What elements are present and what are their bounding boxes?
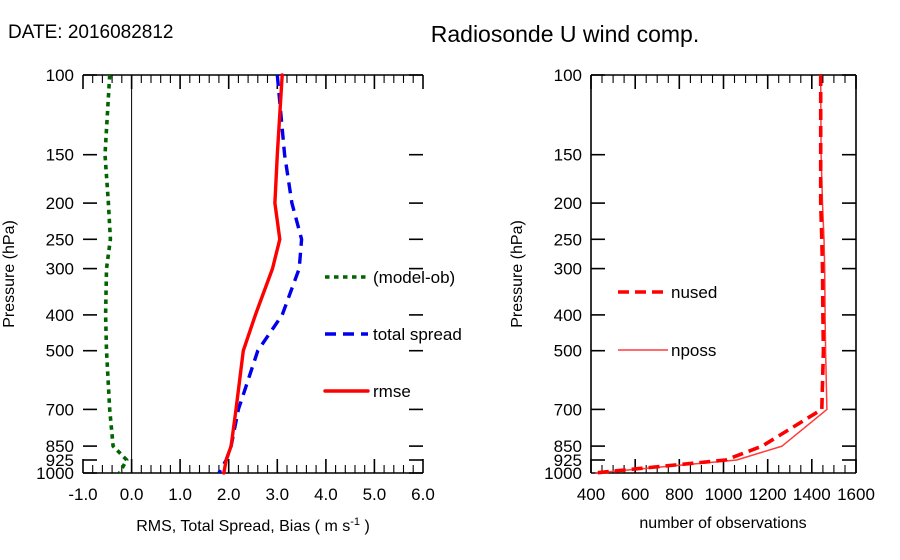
left-ytick-label: 700 xyxy=(46,400,74,419)
left-ytick-label: 250 xyxy=(46,230,74,249)
left-xtick-label: 1.0 xyxy=(168,485,192,504)
legend-label-rmse: rmse xyxy=(373,382,411,401)
left-xtick-label: 2.0 xyxy=(217,485,241,504)
left-xticks-major xyxy=(83,75,423,473)
left-ytick-label: 1000 xyxy=(36,464,74,483)
chart-svg: DATE: 2016082812 Radiosonde U wind comp. xyxy=(0,0,900,560)
series-total-spread-curve xyxy=(219,75,302,473)
left-xtick-label: 4.0 xyxy=(314,485,338,504)
left-ytick-label: 500 xyxy=(46,342,74,361)
left-ytick-label: 400 xyxy=(46,306,74,325)
left-ytick-label: 300 xyxy=(46,260,74,279)
right-ytick-label: 300 xyxy=(554,260,582,279)
right-ytick-label: 200 xyxy=(554,194,582,213)
right-xtick-label: 1000 xyxy=(705,485,743,504)
series-rmse-curve xyxy=(224,75,282,473)
legend-label-total-spread: total spread xyxy=(373,325,462,344)
left-xtick-label: 5.0 xyxy=(363,485,387,504)
right-ytick-label: 100 xyxy=(554,66,582,85)
left-ytick-label: 100 xyxy=(46,66,74,85)
left-ytick-label: 200 xyxy=(46,194,74,213)
right-xtick-label: 800 xyxy=(665,485,693,504)
left-ytick-label: 150 xyxy=(46,146,74,165)
left-yticks xyxy=(83,75,423,473)
right-ytick-label: 250 xyxy=(554,230,582,249)
legend-label-nposs: nposs xyxy=(671,341,716,360)
left-xtick-label: -1.0 xyxy=(68,485,97,504)
left-xticks-minor xyxy=(93,75,414,473)
series-model-ob-curve xyxy=(105,75,127,473)
left-xtick-label: 0.0 xyxy=(120,485,144,504)
right-xtick-label: 1600 xyxy=(837,485,875,504)
legend-label-model-ob: (model-ob) xyxy=(373,268,455,287)
left-panel: -1.0 0.0 1.0 2.0 3.0 4.0 5.0 6.0 xyxy=(1,66,462,535)
legend-label-nused: nused xyxy=(671,283,717,302)
left-xaxis-title: RMS, Total Spread, Bias ( m s-1 ) xyxy=(136,516,370,535)
right-xtick-label: 600 xyxy=(621,485,649,504)
right-xtick-label: 400 xyxy=(577,485,605,504)
right-ytick-label: 400 xyxy=(554,306,582,325)
right-legend: nused nposs xyxy=(618,283,717,360)
date-label: DATE: 2016082812 xyxy=(8,22,174,43)
left-xtick-label: 3.0 xyxy=(265,485,289,504)
left-legend: (model-ob) total spread rmse xyxy=(325,268,462,401)
figure-title: Radiosonde U wind comp. xyxy=(431,21,699,47)
series-nused-curve xyxy=(594,75,823,473)
left-xtick-label: 6.0 xyxy=(411,485,435,504)
right-ytick-label: 500 xyxy=(554,342,582,361)
series-nposs-curve xyxy=(595,75,827,473)
right-xticks-minor xyxy=(602,75,845,473)
right-ytick-label: 700 xyxy=(554,400,582,419)
right-xtick-label: 1200 xyxy=(749,485,787,504)
right-panel: 400 600 800 1000 1200 1400 1600 xyxy=(509,66,875,532)
right-xtick-label: 1400 xyxy=(793,485,831,504)
left-yaxis-title: Pressure (hPa) xyxy=(1,220,18,328)
figure-canvas: DATE: 2016082812 Radiosonde U wind comp. xyxy=(0,0,900,560)
right-ytick-label: 150 xyxy=(554,146,582,165)
right-yticks xyxy=(591,75,856,460)
right-xaxis-title: number of observations xyxy=(639,515,806,532)
right-yaxis-title: Pressure (hPa) xyxy=(509,220,526,328)
right-ytick-label: 1000 xyxy=(544,464,582,483)
